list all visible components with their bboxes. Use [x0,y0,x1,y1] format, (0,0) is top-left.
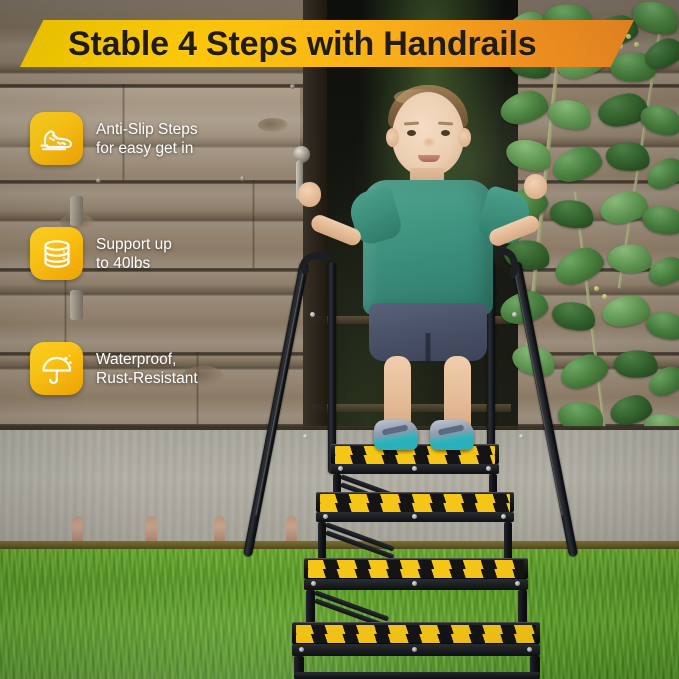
child-ear [458,128,471,147]
child-ear [386,128,399,147]
feature-item-weight-capacity: Support up to 40lbs [30,227,172,280]
feature-label: Support up to 40lbs [96,235,172,273]
page-title: Stable 4 Steps with Handrails [68,27,536,61]
shoe-sole [374,443,418,450]
child-head [392,92,464,176]
child-hand-right [524,174,547,199]
child-eye [407,130,416,136]
feature-item-anti-slip: Anti-Slip Steps for easy get in [30,112,198,165]
child-shoe-right [430,420,474,450]
child-shorts [369,303,487,361]
weight-stack-icon [41,239,73,269]
shoe-strap [382,424,409,435]
child-nose [423,138,436,148]
feature-badge [30,112,83,165]
title-banner: Stable 4 Steps with Handrails [20,20,634,67]
child-subject [0,0,679,679]
feature-badge [30,342,83,395]
feature-label: Anti-Slip Steps for easy get in [96,120,198,158]
shoe-strap [438,424,465,435]
child-eye [441,130,450,136]
shoe-icon [39,125,75,153]
shoe-sole [430,443,474,450]
umbrella-icon [40,353,74,385]
child-mouth [418,155,440,162]
feature-label: Waterproof, Rust-Resistant [96,350,198,388]
feature-item-waterproof: Waterproof, Rust-Resistant [30,342,198,395]
product-feature-image: Stable 4 Steps with Handrails Anti-Slip … [0,0,679,679]
child-hand-left [298,182,321,207]
feature-badge [30,227,83,280]
child-shoe-left [374,420,418,450]
